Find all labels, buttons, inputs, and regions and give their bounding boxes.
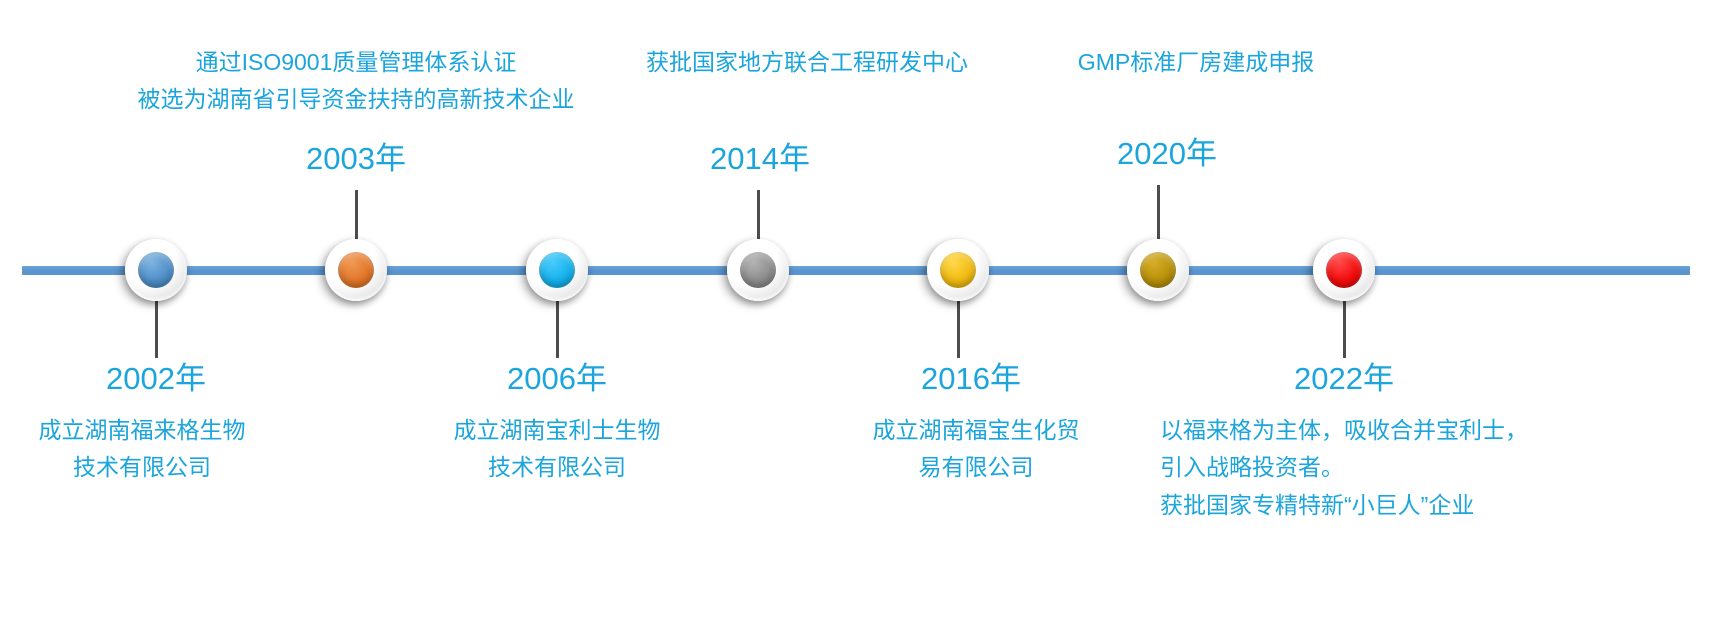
- timeline-description-2014: 获批国家地方联合工程研发中心: [646, 44, 968, 81]
- timeline-entry-2020-top-text: GMP标准厂房建成申报: [1078, 44, 1314, 81]
- timeline-description-2002: 成立湖南福来格生物 技术有限公司: [39, 412, 246, 487]
- description-line: 引入战略投资者。: [1160, 449, 1528, 486]
- description-line: 成立湖南福宝生化贸: [873, 412, 1080, 449]
- year-label: 2020年: [1117, 137, 1217, 172]
- year-label: 2006年: [507, 362, 607, 397]
- timeline-entry-2002-text: 成立湖南福来格生物 技术有限公司: [39, 412, 246, 487]
- timeline-node-2020[interactable]: [1127, 239, 1189, 301]
- timeline-stem-2006: [556, 296, 559, 358]
- timeline-entry-2006-text: 成立湖南宝利士生物 技术有限公司: [454, 412, 661, 487]
- timeline-stem-2016: [957, 296, 960, 358]
- description-line: 获批国家专精特新“小巨人”企业: [1160, 487, 1528, 524]
- timeline-description-2006: 成立湖南宝利士生物 技术有限公司: [454, 412, 661, 487]
- node-dot-2016: [940, 252, 976, 288]
- description-line: 成立湖南宝利士生物: [454, 412, 661, 449]
- description-line: 技术有限公司: [454, 449, 661, 486]
- timeline-node-2003[interactable]: [325, 239, 387, 301]
- year-label: 2003年: [306, 142, 406, 177]
- node-dot-2002: [138, 252, 174, 288]
- timeline-node-2014[interactable]: [727, 239, 789, 301]
- description-line: 以福来格为主体，吸收合并宝利士，: [1160, 412, 1528, 449]
- timeline-year-2002: 2002年: [106, 362, 206, 397]
- timeline-entry-2003-top-text: 通过ISO9001质量管理体系认证 被选为湖南省引导资金扶持的高新技术企业: [138, 44, 575, 119]
- timeline-node-2016[interactable]: [927, 239, 989, 301]
- description-line: 获批国家地方联合工程研发中心: [646, 44, 968, 81]
- year-label: 2022年: [1294, 362, 1394, 397]
- description-line: 通过ISO9001质量管理体系认证: [138, 44, 575, 81]
- year-label: 2016年: [921, 362, 1021, 397]
- timeline-description-2016: 成立湖南福宝生化贸 易有限公司: [873, 412, 1080, 487]
- timeline-year-2014: 2014年: [710, 142, 810, 177]
- node-dot-2003: [338, 252, 374, 288]
- timeline-rail: [22, 266, 1690, 275]
- timeline-node-2002[interactable]: [125, 239, 187, 301]
- timeline-year-2006: 2006年: [507, 362, 607, 397]
- year-label: 2002年: [106, 362, 206, 397]
- description-line: 技术有限公司: [39, 449, 246, 486]
- timeline-description-2020: GMP标准厂房建成申报: [1078, 44, 1314, 81]
- timeline-year-2016: 2016年: [921, 362, 1021, 397]
- timeline-entry-2016-text: 成立湖南福宝生化贸 易有限公司: [873, 412, 1080, 487]
- timeline-year-2022: 2022年: [1294, 362, 1394, 397]
- timeline-diagram: 通过ISO9001质量管理体系认证 被选为湖南省引导资金扶持的高新技术企业 20…: [0, 0, 1716, 624]
- timeline-year-2003: 2003年: [306, 142, 406, 177]
- timeline-description-2022: 以福来格为主体，吸收合并宝利士， 引入战略投资者。 获批国家专精特新“小巨人”企…: [1160, 412, 1528, 524]
- timeline-node-2022[interactable]: [1313, 239, 1375, 301]
- timeline-node-2006[interactable]: [526, 239, 588, 301]
- node-dot-2014: [740, 252, 776, 288]
- node-dot-2006: [539, 252, 575, 288]
- timeline-entry-2022-text: 以福来格为主体，吸收合并宝利士， 引入战略投资者。 获批国家专精特新“小巨人”企…: [1160, 412, 1528, 524]
- description-line: 被选为湖南省引导资金扶持的高新技术企业: [138, 81, 575, 118]
- timeline-year-2020: 2020年: [1117, 137, 1217, 172]
- description-line: 易有限公司: [873, 449, 1080, 486]
- description-line: 成立湖南福来格生物: [39, 412, 246, 449]
- node-dot-2022: [1326, 252, 1362, 288]
- year-label: 2014年: [710, 142, 810, 177]
- timeline-stem-2002: [155, 296, 158, 358]
- node-dot-2020: [1140, 252, 1176, 288]
- timeline-stem-2022: [1343, 296, 1346, 358]
- timeline-entry-2014-top-text: 获批国家地方联合工程研发中心: [646, 44, 968, 81]
- description-line: GMP标准厂房建成申报: [1078, 44, 1314, 81]
- timeline-description-2003: 通过ISO9001质量管理体系认证 被选为湖南省引导资金扶持的高新技术企业: [138, 44, 575, 119]
